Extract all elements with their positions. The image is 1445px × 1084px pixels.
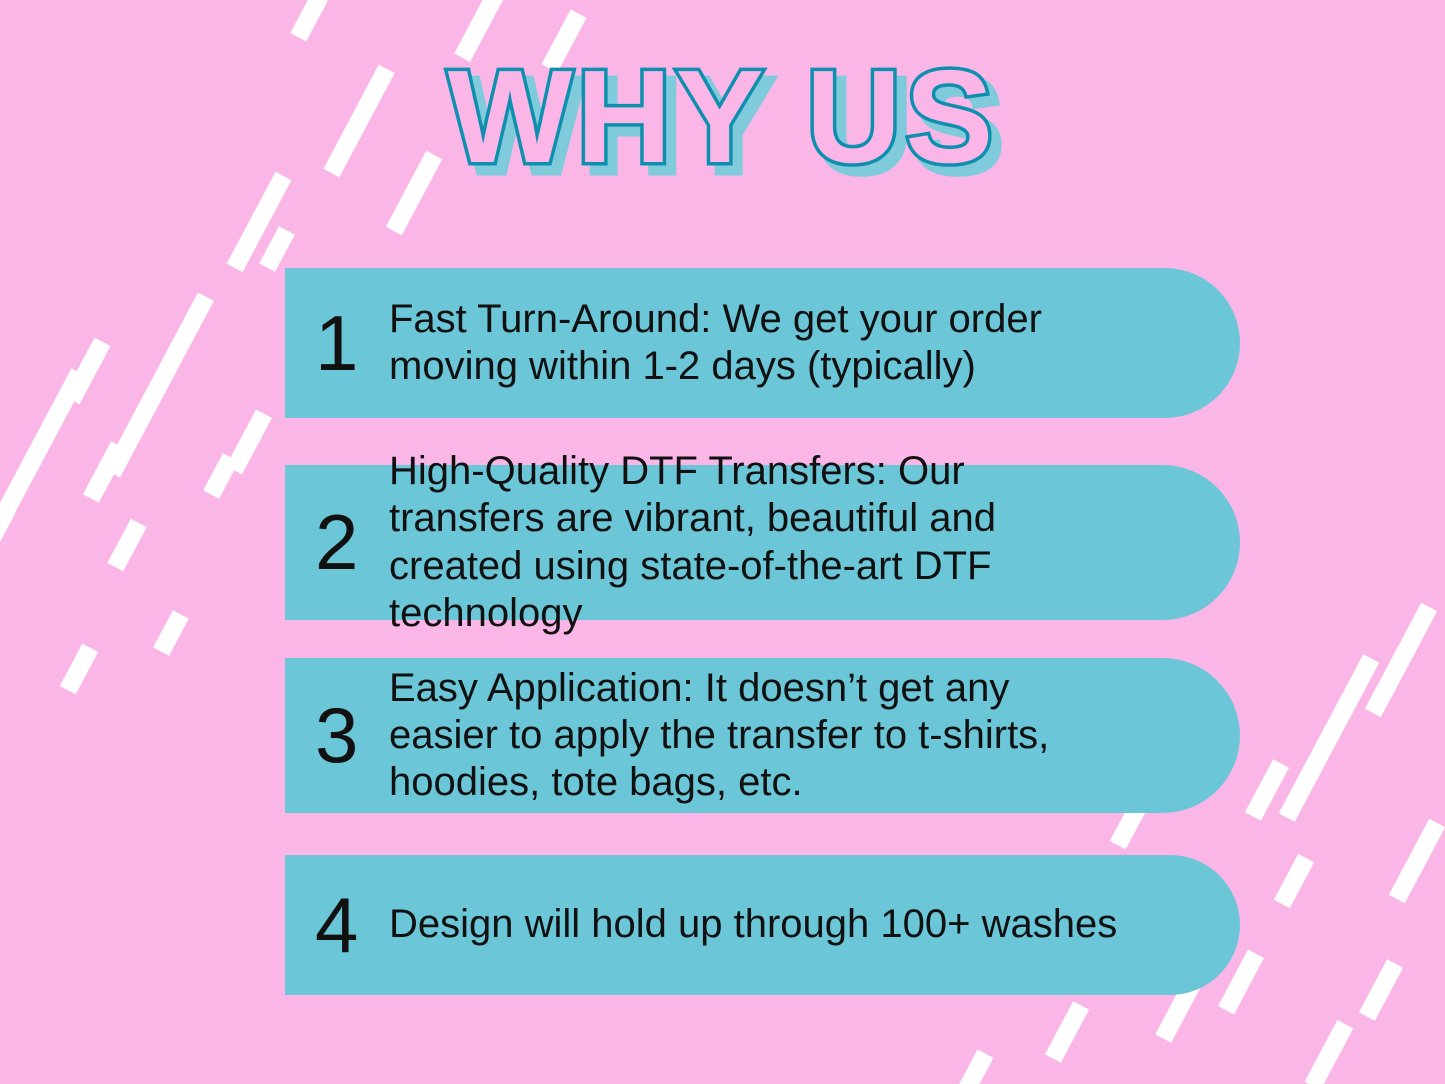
list-item-text: High-Quality DTF Transfers: Our transfer… [389, 448, 1120, 637]
decorative-dash [1274, 854, 1314, 908]
decorative-dash [1359, 959, 1403, 1020]
decorative-dash [259, 226, 295, 272]
decorative-dash [1305, 1020, 1354, 1084]
list-item: 3 Easy Application: It doesn’t get any e… [285, 658, 1240, 813]
list-item-number: 4 [315, 890, 389, 960]
page-title: WHY US WHY US WHY US [0, 42, 1445, 202]
list-item: 1 Fast Turn-Around: We get your order mo… [285, 268, 1240, 418]
page-title-fill: WHY US [0, 42, 1445, 192]
list-item-text: Easy Application: It doesn’t get any eas… [389, 665, 1120, 807]
decorative-dash [948, 1049, 993, 1084]
why-us-poster: WHY US WHY US WHY US 1 Fast Turn-Around:… [0, 0, 1445, 1084]
decorative-dash [1245, 759, 1289, 820]
decorative-dash [226, 410, 272, 475]
list-item-number: 1 [315, 308, 389, 378]
decorative-dash [0, 506, 15, 665]
list-item-number: 3 [315, 700, 389, 770]
decorative-dash [104, 292, 214, 477]
decorative-dash [153, 610, 189, 656]
list-item-text: Design will hold up through 100+ washes [389, 901, 1120, 948]
decorative-dash [1045, 1001, 1089, 1062]
decorative-dash [64, 338, 111, 405]
decorative-dash [203, 453, 239, 499]
list-item: 2 High-Quality DTF Transfers: Our transf… [285, 465, 1240, 620]
list-item-text: Fast Turn-Around: We get your order movi… [389, 296, 1120, 390]
list-item: 4 Design will hold up through 100+ washe… [285, 855, 1240, 995]
decorative-dash [1365, 603, 1437, 717]
decorative-dash [83, 441, 127, 502]
decorative-dash [290, 0, 327, 42]
decorative-dash [0, 368, 87, 641]
decorative-dash [1389, 819, 1445, 903]
decorative-dash [1279, 654, 1379, 821]
decorative-dash [60, 644, 98, 695]
list-item-number: 2 [315, 507, 389, 577]
decorative-dash [107, 519, 146, 572]
